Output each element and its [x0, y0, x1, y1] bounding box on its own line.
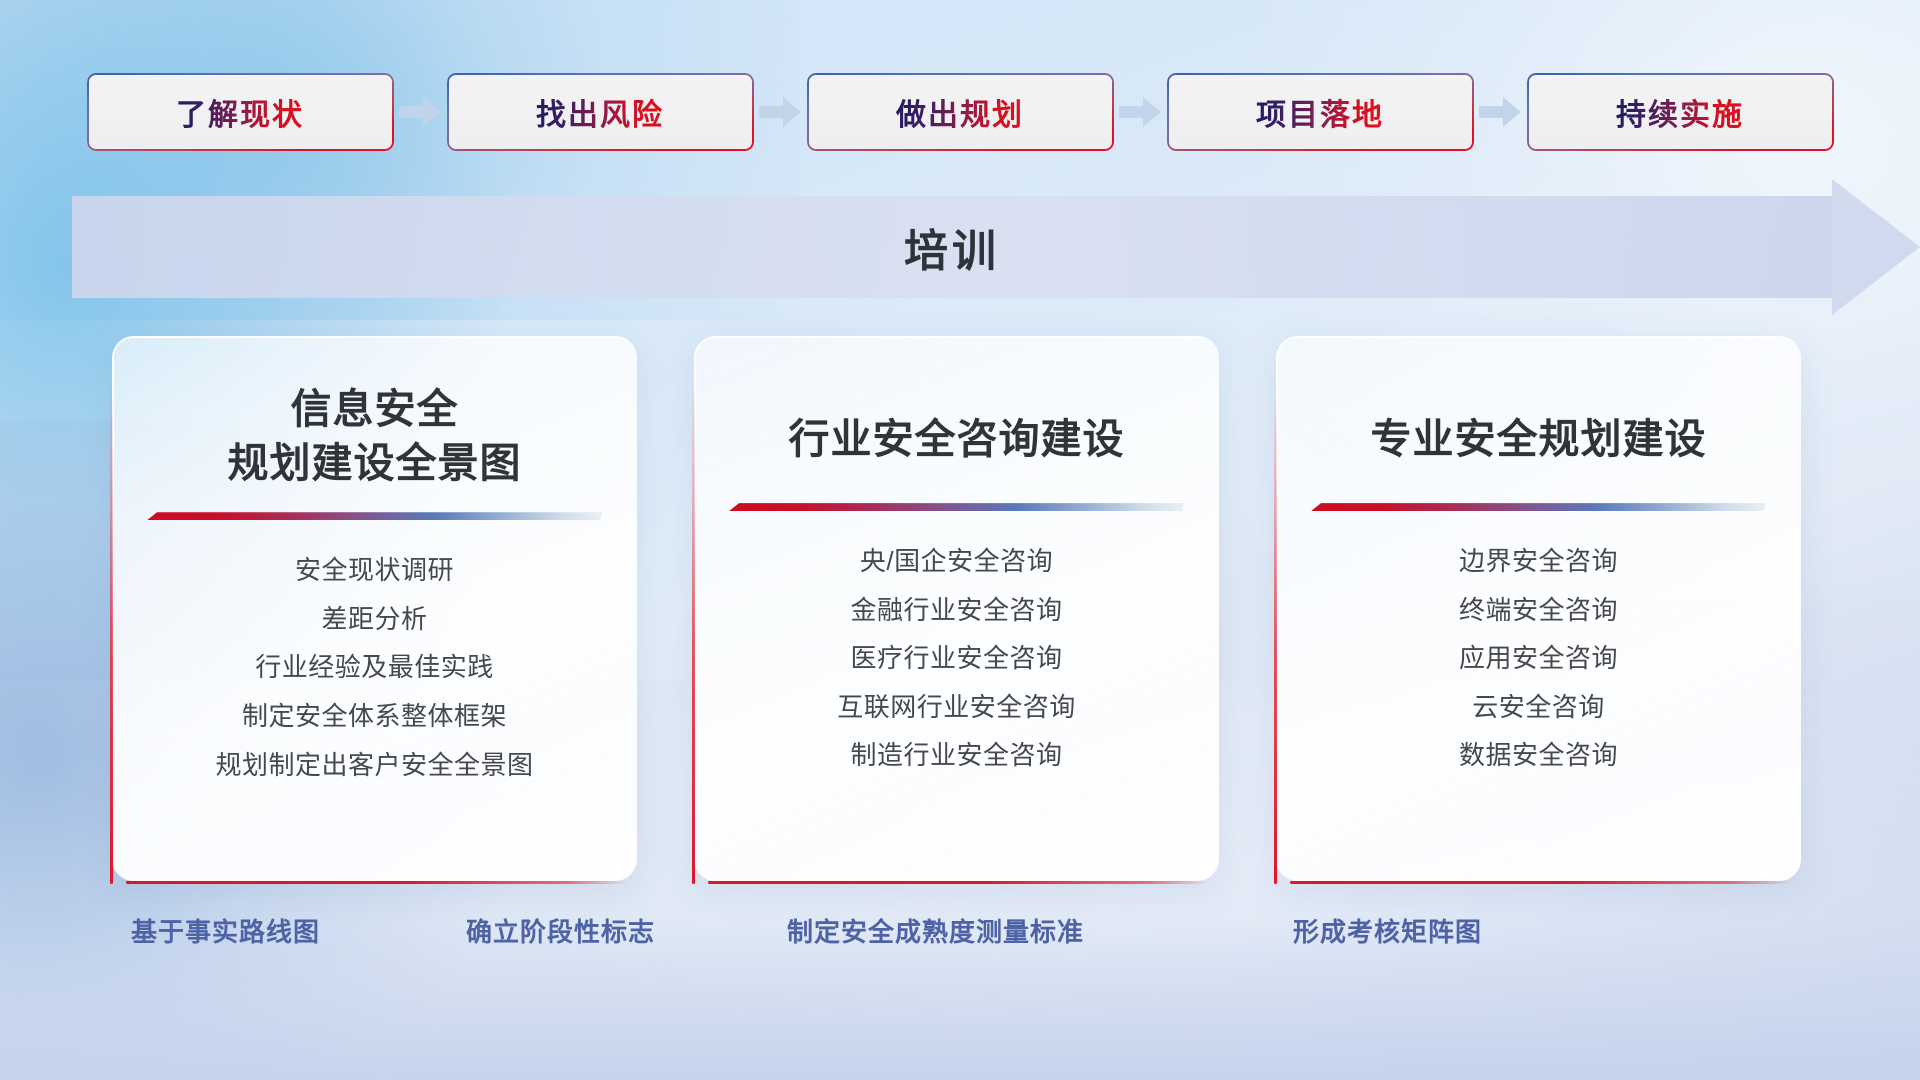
step-wrap-2: 找出风险	[447, 72, 807, 152]
card-2-bottom-accent	[708, 881, 1209, 884]
training-banner: 培训	[72, 196, 1920, 298]
footnote-label-3: 制定安全成熟度测量标准	[787, 912, 1084, 949]
training-banner-arrowhead	[1832, 179, 1920, 315]
list-item: 云安全咨询	[1472, 687, 1605, 729]
card-3-content: 专业安全规划建设 边界安全咨询 终端安全咨询 应用安全咨询 云安全咨询 数据安全…	[1276, 336, 1801, 881]
list-item: 应用安全咨询	[1459, 638, 1618, 680]
step-label-4: 项目落地	[1256, 90, 1384, 134]
card-2-item-list: 央/国企安全咨询 金融行业安全咨询 医疗行业安全咨询 互联网行业安全咨询 制造行…	[837, 541, 1076, 777]
step-wrap-4: 项目落地	[1167, 72, 1527, 152]
card-2-title: 行业安全咨询建设	[789, 412, 1125, 466]
card-1-content: 信息安全 规划建设全景图 安全现状调研 差距分析 行业经验及最佳实践 制定安全体…	[112, 336, 637, 881]
list-item: 互联网行业安全咨询	[837, 687, 1076, 729]
arrow-right-icon-4	[1474, 72, 1527, 152]
step-box-3[interactable]: 做出规划	[807, 73, 1114, 151]
footnote-label-4: 形成考核矩阵图	[1293, 912, 1482, 949]
card-1-item-list: 安全现状调研 差距分析 行业经验及最佳实践 制定安全体系整体框架 规划制定出客户…	[215, 550, 533, 786]
step-label-3: 做出规划	[896, 90, 1024, 134]
list-item: 医疗行业安全咨询	[850, 638, 1062, 680]
arrow-right-icon-1	[394, 72, 447, 152]
card-1-divider	[147, 512, 602, 520]
card-1-title: 信息安全 规划建设全景图	[228, 382, 522, 490]
card-row: 信息安全 规划建设全景图 安全现状调研 差距分析 行业经验及最佳实践 制定安全体…	[0, 336, 1920, 881]
footnote-label-1: 基于事实路线图	[131, 912, 320, 949]
step-label-5: 持续实施	[1616, 90, 1744, 134]
training-banner-label: 培训	[72, 196, 1832, 298]
arrow-right-icon-3	[1114, 72, 1167, 152]
process-step-flow: 了解现状 找出风险 做出规划 项目落地	[0, 72, 1920, 152]
list-item: 制造行业安全咨询	[850, 735, 1062, 777]
list-item: 金融行业安全咨询	[850, 590, 1062, 632]
step-label-2: 找出风险	[536, 90, 664, 134]
step-box-2[interactable]: 找出风险	[447, 73, 754, 151]
card-2-title-line-1: 行业安全咨询建设	[789, 412, 1125, 466]
card-information-security-blueprint[interactable]: 信息安全 规划建设全景图 安全现状调研 差距分析 行业经验及最佳实践 制定安全体…	[112, 336, 637, 881]
list-item: 行业经验及最佳实践	[255, 647, 494, 689]
step-label-1: 了解现状	[176, 90, 304, 134]
card-1-title-line-1: 信息安全	[228, 382, 522, 436]
card-1-bottom-accent	[126, 881, 627, 884]
list-item: 安全现状调研	[295, 550, 454, 592]
step-wrap-1: 了解现状	[87, 72, 447, 152]
list-item: 规划制定出客户安全全景图	[215, 745, 533, 787]
step-wrap-3: 做出规划	[807, 72, 1167, 152]
card-industry-security-consulting[interactable]: 行业安全咨询建设 央/国企安全咨询 金融行业安全咨询 医疗行业安全咨询 互联网行…	[694, 336, 1219, 881]
footnote-label-2: 确立阶段性标志	[466, 912, 655, 949]
list-item: 央/国企安全咨询	[860, 541, 1053, 583]
list-item: 差距分析	[321, 599, 427, 641]
step-box-4[interactable]: 项目落地	[1167, 73, 1474, 151]
arrow-right-icon-2	[754, 72, 807, 152]
footnote-row: 基于事实路线图 确立阶段性标志 制定安全成熟度测量标准 形成考核矩阵图	[0, 912, 1920, 958]
list-item: 制定安全体系整体框架	[242, 696, 507, 738]
card-3-bottom-accent	[1290, 881, 1791, 884]
card-1-title-line-2: 规划建设全景图	[228, 436, 522, 490]
card-professional-security-planning[interactable]: 专业安全规划建设 边界安全咨询 终端安全咨询 应用安全咨询 云安全咨询 数据安全…	[1276, 336, 1801, 881]
card-2-content: 行业安全咨询建设 央/国企安全咨询 金融行业安全咨询 医疗行业安全咨询 互联网行…	[694, 336, 1219, 881]
card-2-divider	[729, 503, 1184, 511]
card-3-item-list: 边界安全咨询 终端安全咨询 应用安全咨询 云安全咨询 数据安全咨询	[1459, 541, 1618, 777]
list-item: 数据安全咨询	[1459, 735, 1618, 777]
card-3-divider	[1311, 503, 1766, 511]
list-item: 边界安全咨询	[1459, 541, 1618, 583]
step-box-1[interactable]: 了解现状	[87, 73, 394, 151]
card-3-title-line-1: 专业安全规划建设	[1371, 412, 1707, 466]
list-item: 终端安全咨询	[1459, 590, 1618, 632]
step-wrap-5: 持续实施	[1527, 73, 1834, 151]
step-box-5[interactable]: 持续实施	[1527, 73, 1834, 151]
card-3-title: 专业安全规划建设	[1371, 412, 1707, 466]
